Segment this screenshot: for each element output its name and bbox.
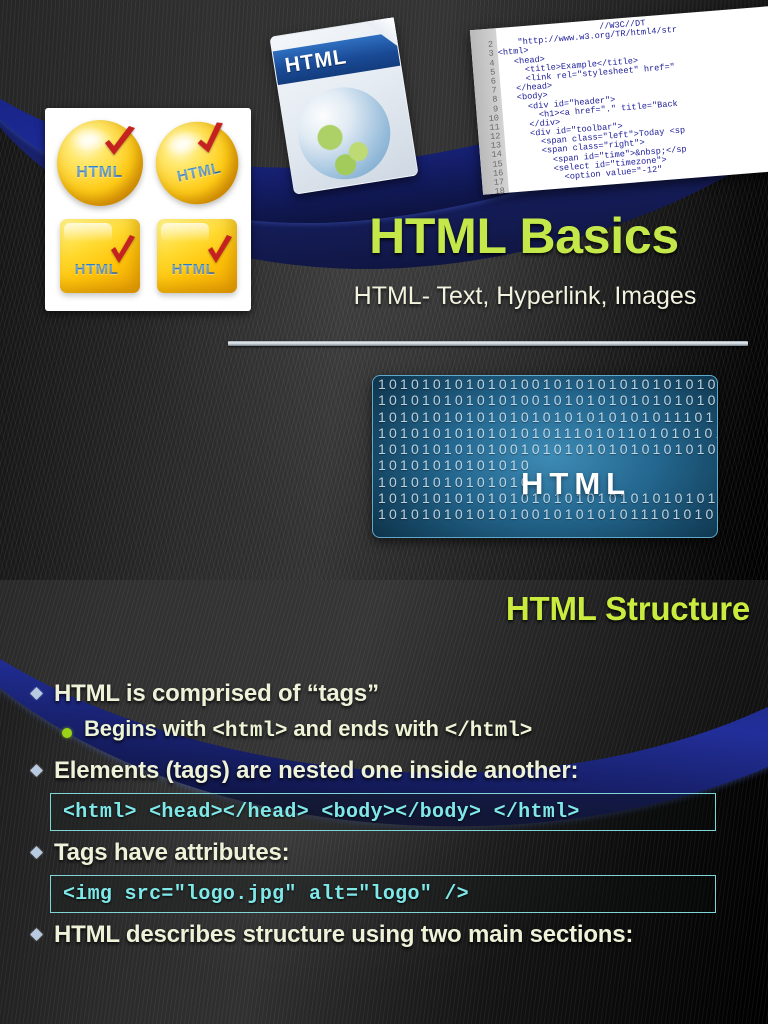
binary-html-image: 1010101010101001010101010101010101101010… [372,375,718,538]
icon-sphere-1: HTML [51,116,148,210]
page-subtitle: HTML- Text, Hyperlink, Images [290,282,760,311]
title-divider [228,341,748,346]
binary-row: 1010101010101001010101010101010100 [373,392,717,408]
icon-sphere-2: HTML [148,116,245,210]
gold-cube-icon: HTML [157,219,237,293]
bullet-item: Elements (tags) are nested one inside an… [0,757,768,785]
binary-row: 1010101010101010101010101011101011 [373,409,717,425]
sub-bullet-middle: and ends with [287,716,444,741]
code-screenshot-lines: //W3C//DT2 "http://www.w3.org/TR/html4/s… [470,9,768,195]
binary-row: 1010101010101001010101010101010101 [373,376,717,392]
binary-row: 1010101010101010111010110101010111 [373,425,717,441]
diamond-bullet-icon [30,764,43,777]
bullet-text: HTML is comprised of “tags” [54,680,379,708]
presentation-page: HTML HTML HTML [0,0,768,1024]
binary-html-word: HTML [521,466,631,502]
sub-bullet-item: Begins with <html> and ends with </html> [0,716,768,743]
icon-cube-1: HTML [51,210,148,304]
code-screenshot-image: //W3C//DT2 "http://www.w3.org/TR/html4/s… [470,6,768,195]
page-title: HTML Basics [300,207,748,265]
red-check-icon [205,235,235,269]
bullet-text: Tags have attributes: [54,839,289,867]
round-bullet-icon [62,728,72,738]
html-icons-image: HTML HTML HTML [45,108,251,311]
inline-code-open-tag: <html> [212,720,287,743]
bullet-item: HTML describes structure using two main … [0,921,768,949]
red-check-icon [188,118,234,164]
icon-cube-2: HTML [148,210,245,304]
gold-sphere-icon: HTML [148,114,246,212]
code-box-img-tag: <img src="logo.jpg" alt="logo" /> [50,875,716,913]
gold-sphere-icon: HTML [57,120,143,206]
bullet-text: HTML describes structure using two main … [54,921,633,949]
slide2-title: HTML Structure [506,590,750,628]
code-box-text: <img src="logo.jpg" alt="logo" /> [63,883,469,906]
inline-code-close-tag: </html> [445,720,533,743]
bullet-item: Tags have attributes: [0,839,768,867]
diamond-bullet-icon [30,846,43,859]
binary-row: 1010101010101001010101011101010101 [373,506,717,522]
code-box-structure: <html> <head></head> <body></body> </htm… [50,793,716,831]
red-check-icon [108,235,138,269]
icon-label: HTML [57,164,143,182]
globe-icon [292,81,397,186]
diamond-bullet-icon [30,687,43,700]
slide-html-structure: HTML Structure HTML is comprised of “tag… [0,580,768,1024]
gold-cube-icon: HTML [60,219,140,293]
slide2-body: HTML is comprised of “tags” Begins with … [0,680,768,957]
red-check-icon [99,124,139,164]
bullet-item: HTML is comprised of “tags” [0,680,768,708]
html-file-icon: HTML [269,17,418,195]
file-banner-label: HTML [273,32,401,85]
code-box-text: <html> <head></head> <body></body> </htm… [63,801,580,824]
bullet-text: Elements (tags) are nested one inside an… [54,757,578,785]
sub-bullet-prefix: Begins with [84,716,212,741]
slide-title: HTML HTML HTML [0,0,768,580]
binary-row: 1010101010100101010101010101010101 [373,441,717,457]
sub-bullet-text: Begins with <html> and ends with </html> [84,716,532,741]
diamond-bullet-icon [30,928,43,941]
